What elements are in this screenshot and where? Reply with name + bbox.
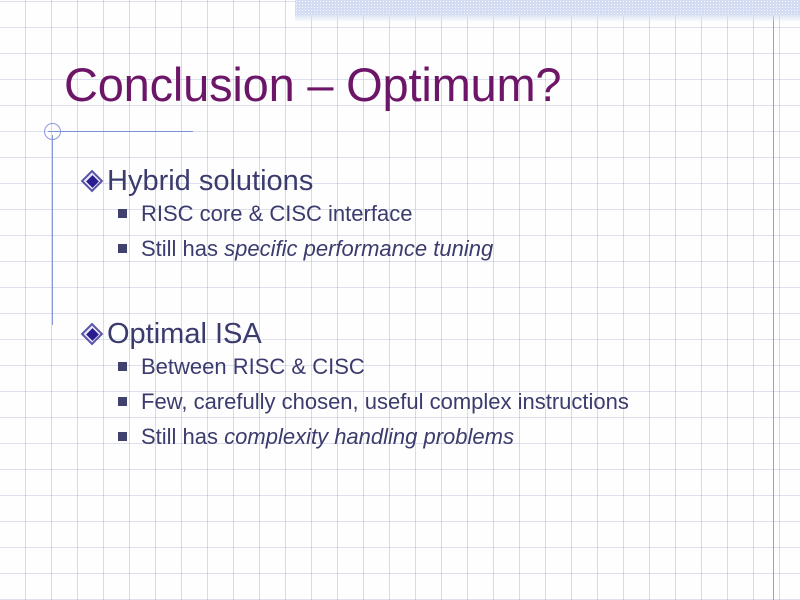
level2-bullet-row: Still has complexity handling problems — [0, 424, 800, 459]
square-bullet-icon — [118, 362, 127, 371]
level1-bullet-label: Optimal ISA — [107, 319, 262, 351]
level2-bullet-row: Still has specific performance tuning — [0, 236, 800, 271]
level2-bullet-emphasis: complexity handling problems — [224, 424, 514, 449]
level2-bullet-lead: Few, carefully chosen, useful complex in… — [141, 389, 629, 414]
presentation-slide: Conclusion – Optimum? Hybrid solutions R… — [0, 0, 800, 600]
slide-title: Conclusion – Optimum? — [64, 60, 561, 109]
level1-bullet-row: Optimal ISA — [0, 316, 800, 354]
level2-bullet-emphasis: specific performance tuning — [224, 236, 493, 261]
level2-bullet-row: Between RISC & CISC — [0, 354, 800, 389]
diamond-bullet-icon — [82, 324, 104, 346]
level2-bullet-label: RISC core & CISC interface — [141, 201, 412, 226]
square-bullet-icon — [118, 209, 127, 218]
bullet-group-optimal-isa: Optimal ISA Between RISC & CISC Few, car… — [0, 316, 800, 459]
level2-bullet-label: Still has specific performance tuning — [141, 236, 493, 261]
level2-bullet-label: Few, carefully chosen, useful complex in… — [141, 389, 629, 414]
square-bullet-icon — [118, 244, 127, 253]
level1-bullet-row: Hybrid solutions — [0, 163, 800, 201]
level2-bullet-lead: Still has — [141, 424, 224, 449]
level2-bullet-lead: Between RISC & CISC — [141, 354, 365, 379]
diamond-bullet-icon — [82, 171, 104, 193]
square-bullet-icon — [118, 397, 127, 406]
level1-bullet-label: Hybrid solutions — [107, 166, 313, 198]
level2-bullet-label: Between RISC & CISC — [141, 354, 365, 379]
level2-bullet-row: RISC core & CISC interface — [0, 201, 800, 236]
square-bullet-icon — [118, 432, 127, 441]
level2-bullet-row: Few, carefully chosen, useful complex in… — [0, 389, 800, 424]
level2-bullet-label: Still has complexity handling problems — [141, 424, 514, 449]
top-decorative-band-fade — [295, 15, 800, 22]
top-decorative-band — [295, 0, 800, 15]
slide-body: Hybrid solutions RISC core & CISC interf… — [0, 163, 800, 459]
level2-bullet-lead: Still has — [141, 236, 224, 261]
decorative-horizontal-rule — [48, 131, 193, 132]
level2-bullet-lead: RISC core & CISC interface — [141, 201, 412, 226]
bullet-group-hybrid-solutions: Hybrid solutions RISC core & CISC interf… — [0, 163, 800, 271]
